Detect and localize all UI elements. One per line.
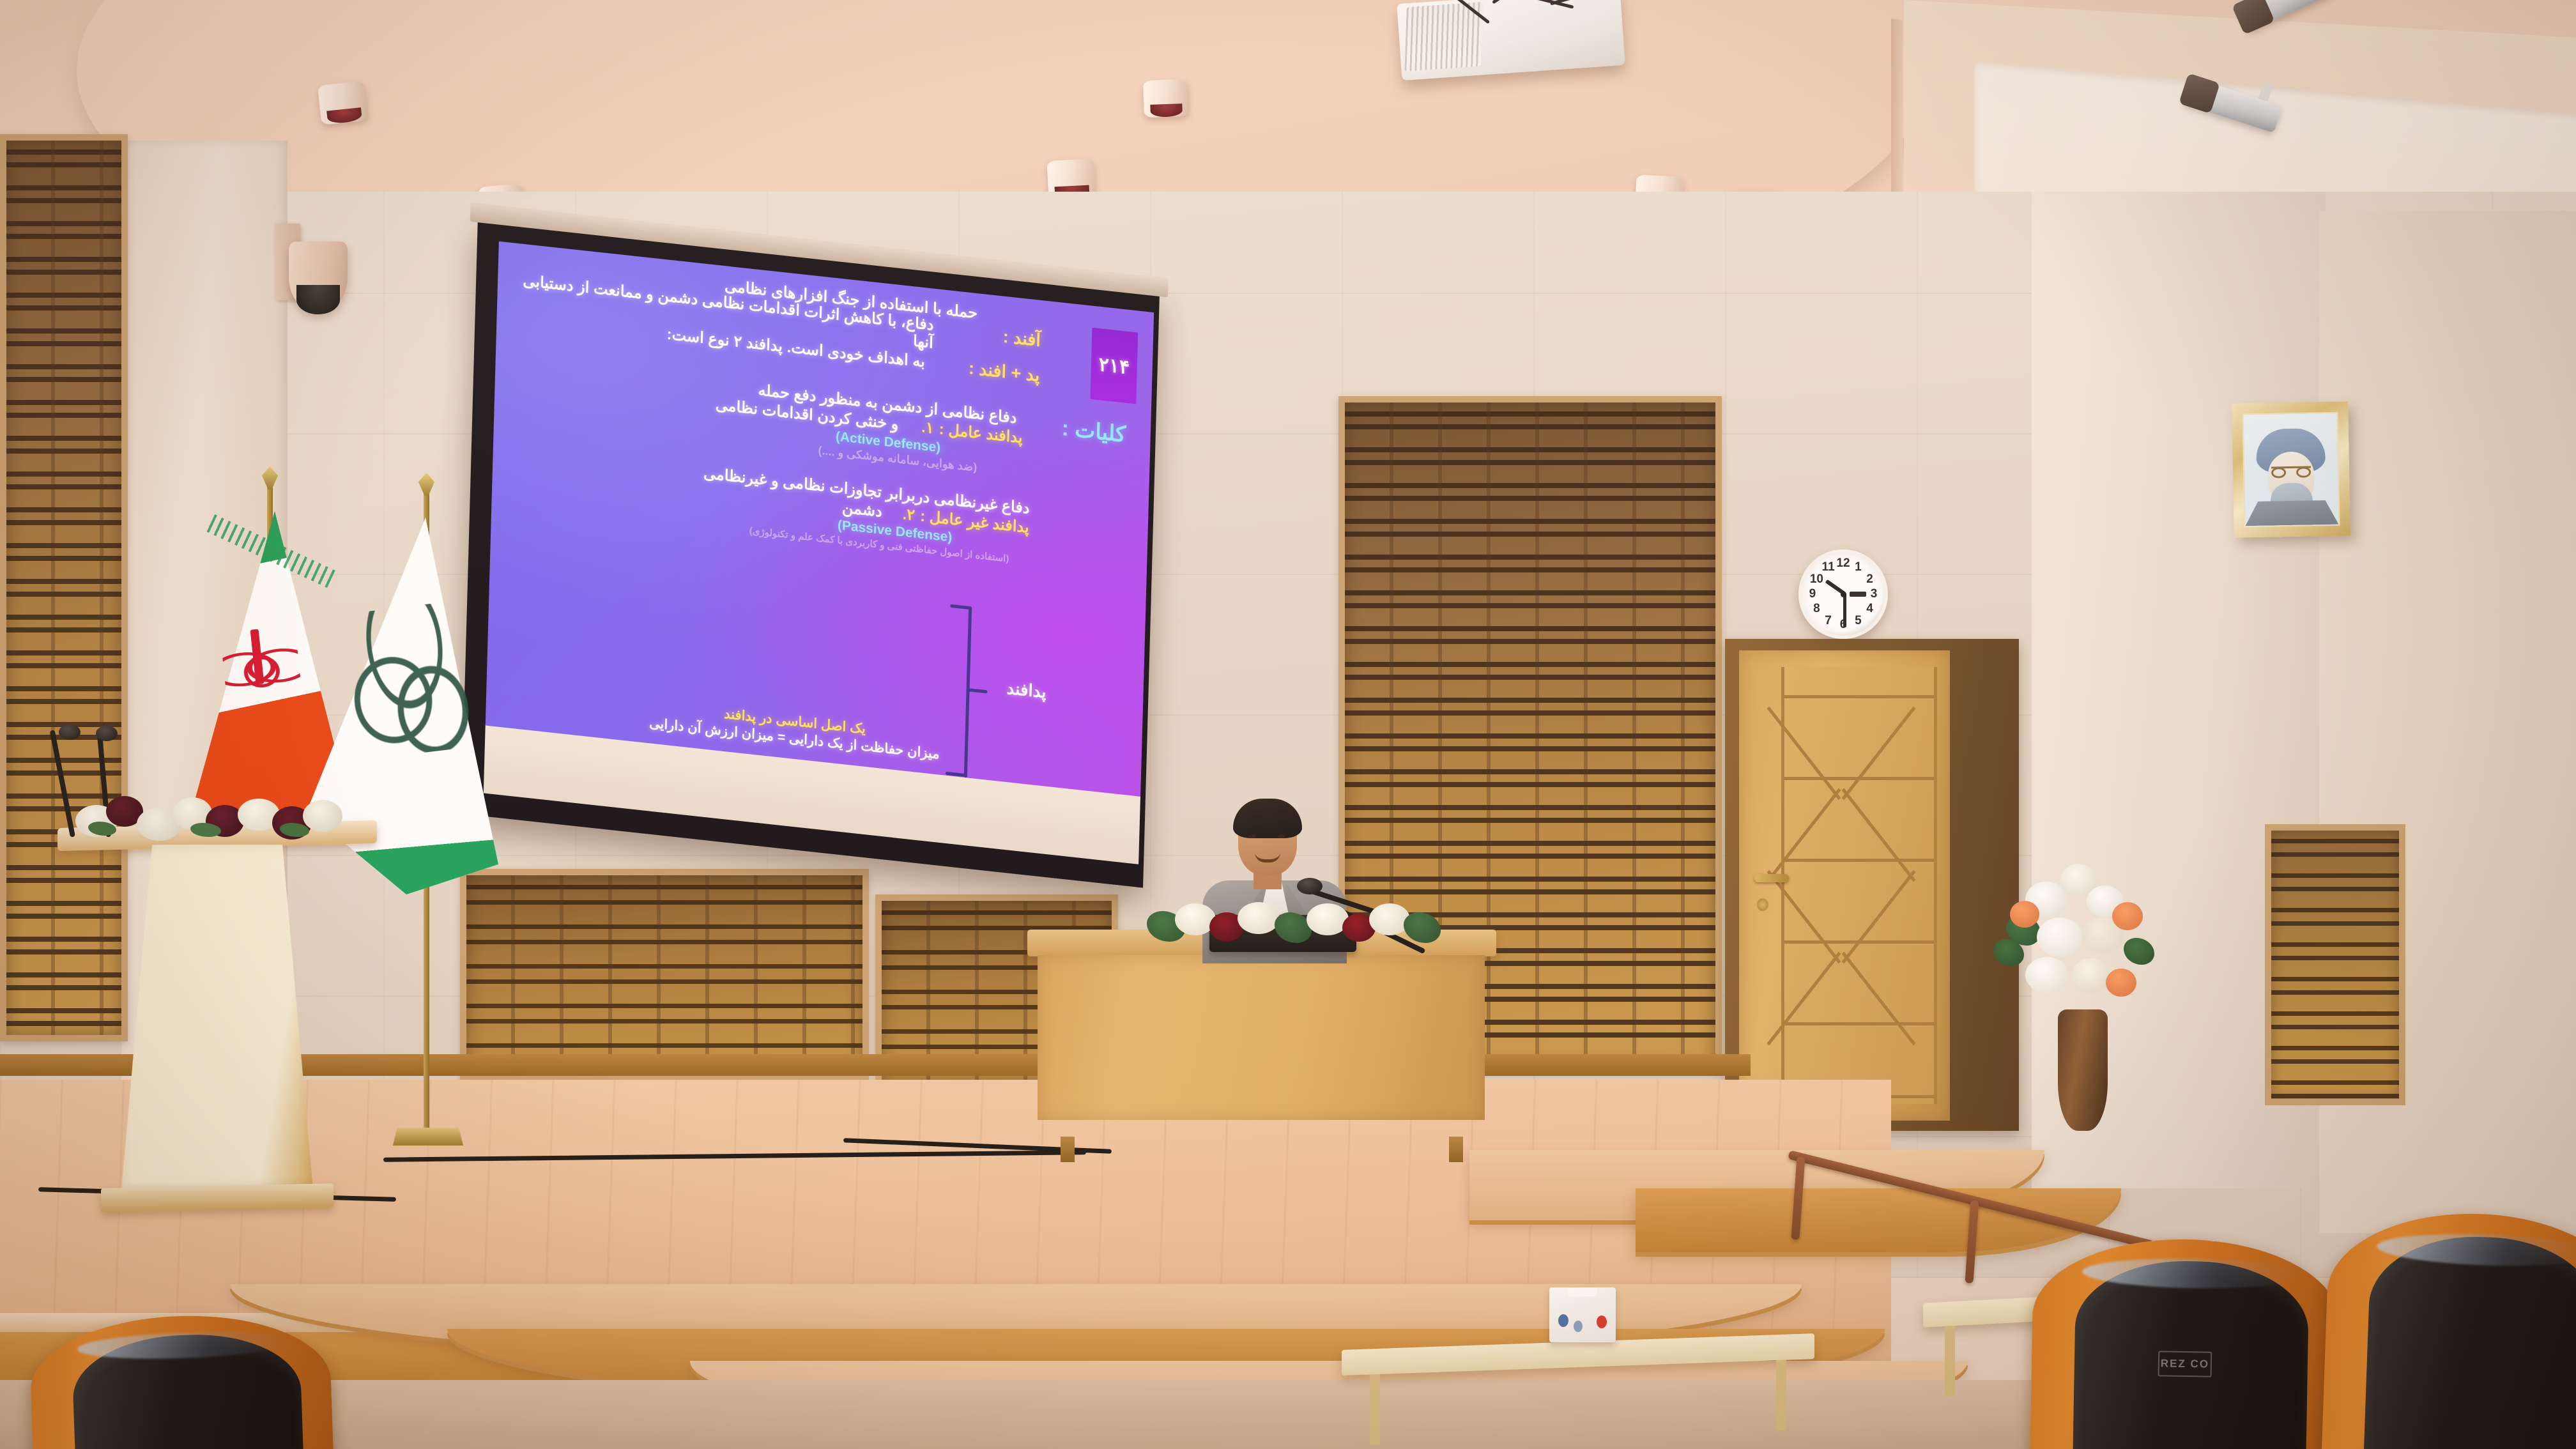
slide-term-afand: آفند :	[1002, 327, 1041, 351]
tissue-box-left	[1549, 1287, 1616, 1342]
wall-clock: 12 1 2 3 4 5 6 7 8 9 10 11	[1798, 549, 1888, 639]
podium-microphone-head-1	[59, 724, 80, 740]
ceiling-downlight-5	[1143, 79, 1189, 118]
slide-passive-number: ۲.	[902, 505, 915, 525]
clock-brand-mark	[1850, 592, 1866, 597]
podium-flower-garland	[75, 791, 344, 841]
clock-center-pin	[1841, 592, 1846, 597]
auditorium-scene: 12 1 2 3 4 5 6 7 8 9 10 11 ۲۱۴ کلیات	[0, 0, 2576, 1449]
clock-numeral: 12	[1836, 556, 1850, 571]
table-flower-garland	[1147, 894, 1441, 947]
clock-numeral: 5	[1855, 614, 1862, 628]
door-handle[interactable]	[1754, 874, 1789, 882]
podium-microphone-head-2	[96, 726, 118, 741]
clock-numeral: 4	[1866, 602, 1873, 616]
clock-numeral: 1	[1855, 560, 1862, 574]
auditorium-seat-1[interactable]	[28, 1311, 335, 1449]
presentation-slide: ۲۱۴ کلیات : حمله با استفاده از جنگ افزار…	[486, 241, 1154, 797]
slide-section-heading: کلیات :	[1052, 414, 1136, 448]
clock-numeral: 7	[1825, 614, 1832, 628]
door-diamond-pattern	[1784, 695, 1934, 1075]
clock-numeral: 2	[1866, 572, 1873, 586]
vase-flowers	[1987, 856, 2179, 1035]
seat-brand-tag: REZ CO	[2158, 1351, 2212, 1377]
flower-vase-arrangement	[1987, 837, 2179, 1131]
flag-institution-calligraphy	[337, 600, 482, 762]
auditorium-door[interactable]	[1725, 639, 2019, 1131]
slide-active-number: ۱.	[921, 418, 934, 438]
clock-numeral: 11	[1822, 560, 1835, 574]
wall-vent-panel-right	[2265, 824, 2405, 1105]
flagpole-base-institution	[393, 1128, 463, 1146]
slide-number-badge: ۲۱۴	[1090, 328, 1138, 404]
ceiling-downlight-1	[318, 80, 369, 125]
ceiling-edge-trim	[1891, 19, 1903, 211]
acoustic-panel-center-left	[460, 869, 869, 1080]
clock-numeral: 8	[1813, 602, 1820, 616]
projection-screen: ۲۱۴ کلیات : حمله با استفاده از جنگ افزار…	[461, 220, 1160, 888]
slide-bracket-root-label: پدافند	[988, 677, 1064, 705]
clock-minute-hand	[1843, 594, 1846, 627]
framed-portrait	[2232, 401, 2350, 537]
podium	[64, 824, 371, 1220]
clock-numeral: 3	[1871, 587, 1878, 601]
slide-body: حمله با استفاده از جنگ افزارهای نظامی آف…	[502, 254, 1041, 569]
slide-passive-desc-2: دشمن	[842, 499, 883, 521]
auditorium-seat-3[interactable]	[2321, 1209, 2576, 1449]
door-lock[interactable]	[1757, 898, 1768, 911]
auditorium-seat-2[interactable]: REZ CO	[2030, 1237, 2341, 1449]
desk-microphone-head	[1297, 878, 1322, 894]
clock-numeral: 9	[1809, 587, 1816, 601]
